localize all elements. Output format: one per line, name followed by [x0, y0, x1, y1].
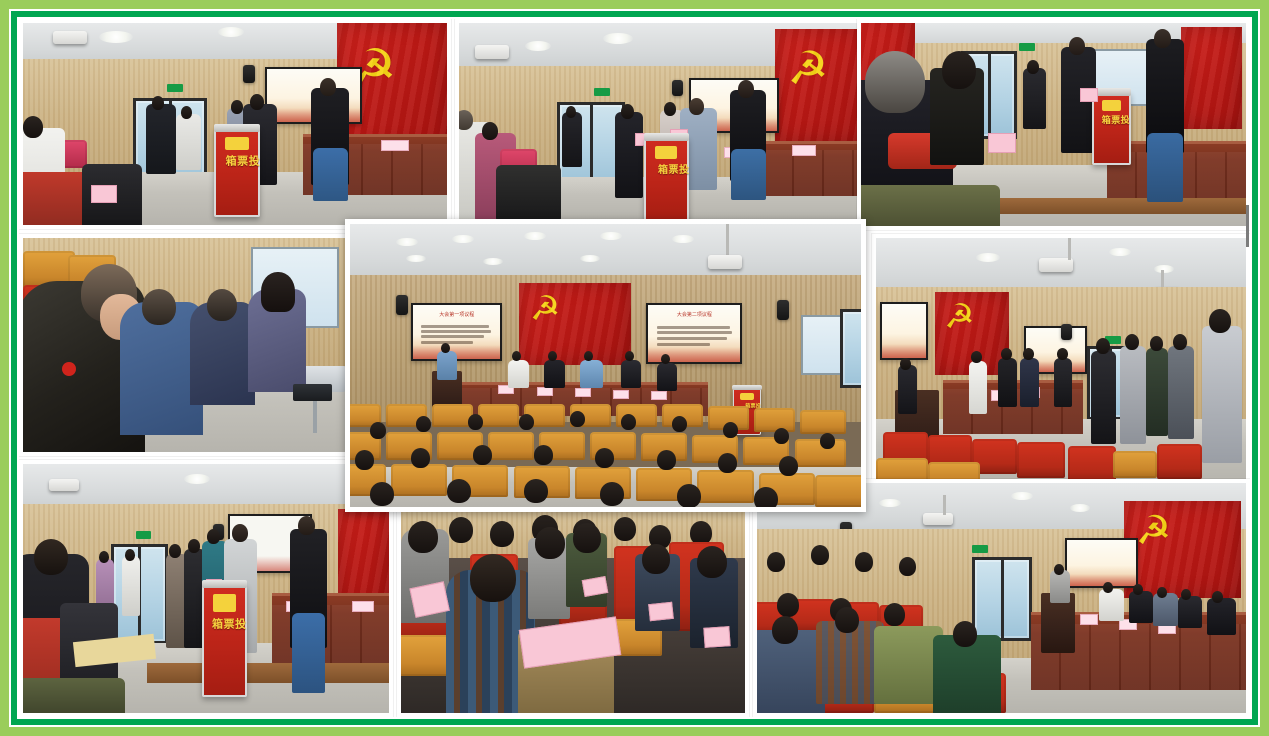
person-seated-stage [508, 360, 528, 388]
hammer-sickle-icon: ☭ [944, 300, 974, 334]
ballot-box-seal [225, 137, 249, 151]
person-head [261, 272, 295, 312]
person-head [181, 106, 192, 119]
person-host [437, 351, 457, 379]
party-flag: ☭ [519, 283, 631, 365]
ballot-box-lid [732, 385, 762, 390]
chair [1157, 444, 1201, 479]
person-head [534, 445, 553, 465]
person-standing [122, 556, 140, 616]
nametag [537, 387, 553, 396]
person-head [625, 351, 634, 361]
person-head [232, 524, 248, 542]
ballot-box-label: 投票箱 [204, 618, 244, 629]
person-head [855, 552, 873, 572]
person-head [125, 549, 135, 561]
speaker-icon [396, 295, 408, 315]
person-seated-stage [544, 360, 564, 388]
person-head [1001, 348, 1012, 360]
person-head [772, 616, 798, 644]
person-head [811, 545, 829, 565]
person-head [490, 521, 514, 547]
speaker-icon [243, 65, 255, 83]
chair [697, 470, 753, 502]
collage-canvas: ☭ [19, 19, 1250, 717]
ballot-box-label: 投票箱 [1094, 115, 1129, 124]
chair [1113, 451, 1157, 477]
person-head [697, 546, 727, 578]
person-head [642, 544, 670, 574]
exit-sign-icon [972, 545, 988, 553]
person-head [677, 484, 701, 507]
projector-mount [1068, 238, 1071, 260]
projector-mount [726, 224, 729, 258]
projector-icon [475, 45, 509, 59]
person-head [441, 343, 450, 353]
person-head [459, 110, 473, 130]
ballot-box: 投票箱 [644, 137, 689, 220]
person-head [621, 414, 636, 430]
person-head [767, 552, 785, 572]
photo-mid-right[interactable]: ☭ [872, 234, 1250, 487]
person-head [570, 411, 585, 427]
chair [488, 432, 534, 460]
projector-icon [708, 255, 742, 269]
party-badge-icon [62, 362, 76, 376]
ballot-box-seal [1102, 100, 1121, 111]
person-head [250, 94, 264, 110]
exit-sign-icon [167, 84, 183, 92]
chair [815, 475, 861, 507]
collage-frame: ☭ [0, 0, 1269, 736]
pink-ballot [703, 626, 730, 648]
hammer-sickle-icon: ☭ [787, 45, 828, 91]
ballot-box-seal [213, 594, 236, 612]
ceiling-light-icon [525, 41, 551, 51]
projector-icon [49, 479, 79, 491]
person-head [1057, 348, 1068, 360]
scene-top-right: 投票箱 [861, 23, 1246, 226]
doorway [840, 309, 861, 389]
person-head [657, 450, 676, 470]
ceiling-light-icon [218, 27, 244, 37]
photo-top-left[interactable]: ☭ [19, 19, 451, 229]
nametag [575, 388, 591, 397]
person-head [566, 106, 576, 118]
person-head [672, 416, 687, 432]
projector-icon [53, 31, 87, 44]
person-head [408, 521, 438, 553]
scene-top-center: ☭ [459, 23, 869, 220]
scene-top-left: ☭ [23, 23, 447, 225]
chair [432, 404, 473, 428]
ballot-box: 投票箱 [1092, 92, 1131, 165]
photo-top-right[interactable]: 投票箱 [857, 19, 1250, 230]
scene-bottom-center [401, 509, 745, 713]
stage-riser [1000, 198, 1246, 214]
seating-area [876, 395, 1246, 483]
person-head [1027, 60, 1039, 74]
person-head [231, 100, 243, 114]
person-head [1154, 29, 1171, 48]
nametag [381, 140, 409, 151]
person-head [621, 104, 634, 119]
chair [1017, 442, 1065, 477]
person-head [600, 482, 624, 506]
person-head [355, 450, 374, 470]
scene-center: ☭ 大会第一项议程 大会第二项议程 [350, 224, 861, 507]
person-seated-stage [657, 363, 677, 391]
exit-sign-icon [594, 88, 610, 96]
projector-icon [923, 513, 953, 525]
person-head [188, 539, 200, 553]
person-seated-stage [621, 360, 641, 388]
person-head [519, 414, 534, 430]
ceiling-light-icon [603, 33, 633, 44]
scene-mid-left [23, 238, 345, 452]
scene-bottom-left: 投票箱 [23, 464, 389, 713]
person-head [689, 98, 704, 115]
nametag [613, 390, 629, 399]
person-head [473, 445, 492, 465]
person-head [447, 479, 471, 503]
person-head [664, 102, 676, 116]
person-head [449, 517, 473, 543]
photo-bottom-right[interactable]: ☭ [753, 479, 1250, 717]
chair [1068, 446, 1116, 483]
pink-ballot [988, 133, 1016, 153]
hammer-sickle-icon: ☭ [1136, 511, 1172, 551]
pink-ballot [1080, 88, 1098, 102]
chair [754, 408, 795, 432]
projection-screen-left: 大会第一项议程 [411, 303, 502, 361]
projection-screen [880, 302, 928, 360]
projection-screen-right: 大会第二项议程 [646, 303, 742, 364]
person-head [23, 116, 43, 138]
person-jeans [292, 613, 325, 693]
speaker-icon [1061, 324, 1072, 340]
person-head [370, 422, 386, 439]
person-seated [23, 678, 125, 713]
person-seated-stage [580, 360, 603, 388]
hammer-sickle-icon: ☭ [530, 292, 560, 326]
person-head [411, 448, 430, 468]
person-foreground [861, 185, 1000, 226]
exit-sign-icon [136, 531, 151, 539]
person-head [99, 551, 109, 563]
ballot-box-lid [214, 124, 260, 132]
person-head [468, 414, 483, 430]
person-head [595, 448, 614, 468]
slide-title-right: 大会第二项议程 [656, 312, 733, 317]
person-head [1125, 334, 1139, 350]
projector-mount [943, 495, 946, 516]
person-head [865, 51, 925, 113]
ceiling-light-icon [184, 474, 210, 484]
person-head [738, 80, 754, 98]
person-head [1173, 334, 1187, 350]
ballot-box: 投票箱 [214, 128, 260, 217]
nametag [352, 601, 374, 612]
person-head [1150, 336, 1163, 351]
photo-bottom-left[interactable]: 投票箱 [19, 460, 393, 717]
person-head [152, 96, 164, 110]
person-jeans [1147, 133, 1182, 202]
person-head [971, 351, 982, 363]
ballot-box-lid [202, 580, 246, 588]
person-head [524, 479, 548, 503]
person-jeans [731, 149, 765, 200]
speaker-icon [672, 80, 683, 96]
person-head [370, 482, 394, 506]
slide-content: 大会第二项议程 [648, 305, 740, 362]
exit-sign-icon [1019, 43, 1035, 51]
person-head [953, 621, 977, 647]
person-head [779, 456, 798, 476]
person-head [820, 433, 835, 449]
photo-center[interactable]: ☭ 大会第一项议程 大会第二项议程 [345, 219, 866, 512]
person-head [942, 51, 976, 89]
person-head [142, 289, 176, 325]
person-head [774, 428, 789, 444]
person-head [1096, 338, 1110, 354]
person-jeans [313, 148, 349, 201]
person-standing [176, 114, 201, 171]
chair [391, 464, 447, 496]
ceiling-light-icon [483, 258, 503, 265]
person-head [535, 527, 565, 559]
ceiling-light-icon [976, 253, 1000, 262]
scene-mid-right: ☭ [876, 238, 1246, 483]
person-standing [1023, 68, 1046, 129]
person-head [573, 523, 601, 553]
person-head [614, 517, 636, 541]
photo-top-center[interactable]: ☭ [455, 19, 873, 224]
person-head [320, 78, 336, 96]
person-head [661, 354, 670, 364]
person-head [169, 544, 181, 558]
speaker-icon [777, 300, 789, 320]
pink-ballot [648, 602, 674, 621]
person-head [34, 539, 68, 575]
ballot-box-lid [644, 133, 689, 141]
slide-title-left: 大会第一项议程 [420, 312, 493, 317]
edge-divider-artifact [1246, 205, 1249, 247]
ballot-box-label: 投票箱 [646, 164, 687, 174]
slide-content: 大会第一项议程 [413, 305, 500, 359]
ballot-box-label: 投票箱 [216, 155, 258, 166]
person-head [835, 607, 859, 633]
person-seated [496, 165, 562, 220]
person-head [1069, 37, 1085, 55]
pink-ballot [91, 185, 117, 203]
person-head [298, 516, 315, 535]
person-head [754, 487, 778, 507]
person-head [899, 557, 916, 576]
ceiling-light-icon [1109, 248, 1131, 256]
ceiling-light-icon [1070, 504, 1090, 512]
person-head [884, 603, 905, 626]
photo-mid-left[interactable] [19, 234, 349, 456]
person-head [207, 529, 220, 544]
stage-riser [147, 663, 389, 683]
person-head [207, 289, 237, 321]
person-head [718, 453, 737, 473]
scene-bottom-right: ☭ [757, 483, 1246, 713]
nametag [792, 145, 816, 156]
party-flag [1181, 27, 1243, 129]
photo-bottom-center[interactable] [397, 505, 749, 717]
party-flag: ☭ [775, 29, 865, 143]
person-head [470, 554, 516, 602]
chair [800, 410, 846, 434]
desk-item [293, 384, 332, 401]
person-standing [146, 104, 176, 175]
slide-content [882, 304, 926, 358]
person-head [482, 122, 498, 140]
chair [478, 404, 519, 428]
ballot-box: 投票箱 [202, 584, 246, 698]
person-head [723, 422, 738, 438]
ballot-box-seal [655, 146, 678, 159]
person-standing [562, 112, 583, 167]
person-standing [615, 112, 644, 199]
person-head [1209, 309, 1231, 333]
person-head [777, 593, 799, 617]
